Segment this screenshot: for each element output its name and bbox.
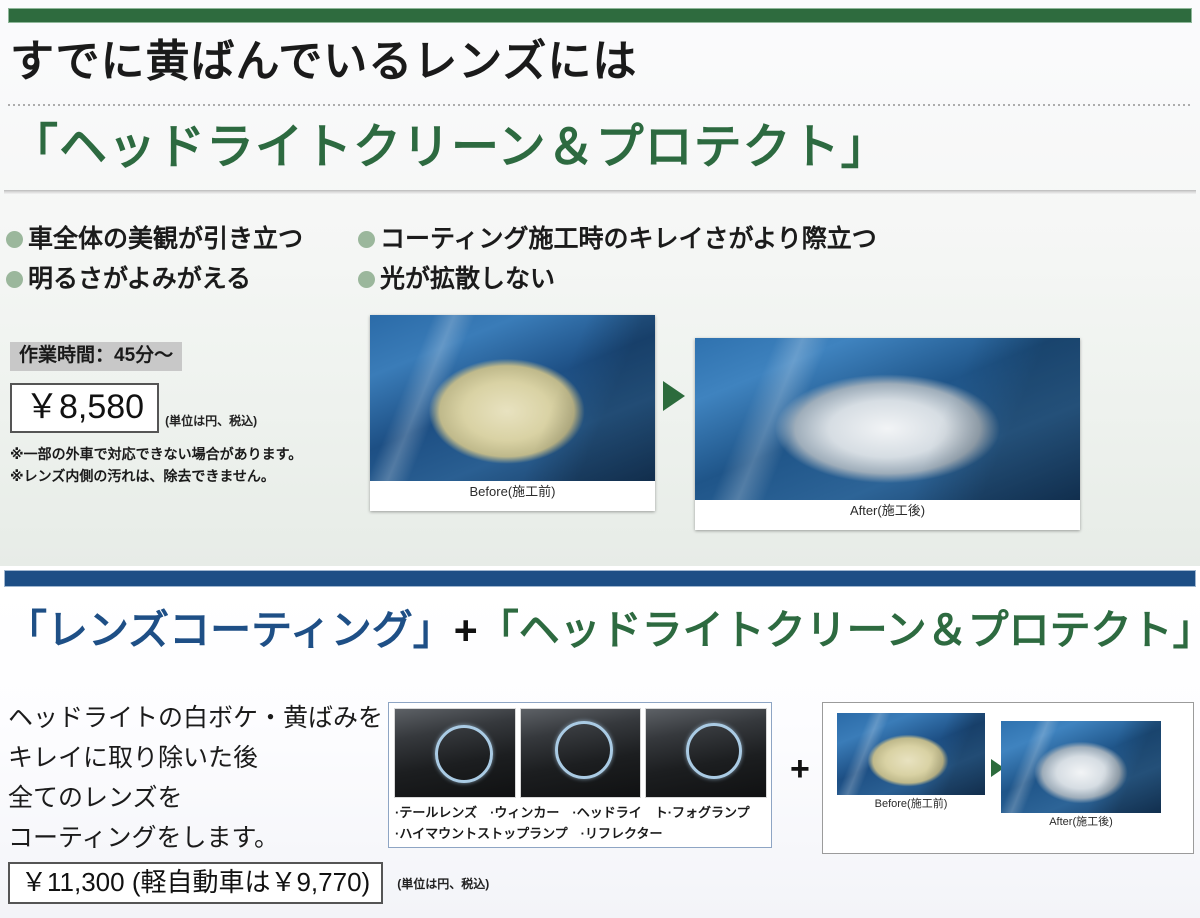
bottom-after-photo-card: After(施工後) bbox=[1001, 721, 1161, 813]
top-disclaimer-list: ※一部の外車で対応できない場合があります。 ※レンズ内側の汚れは、除去できません… bbox=[10, 443, 340, 487]
bullet-dot-icon bbox=[358, 271, 375, 288]
lens-coverage-panel: ·テールレンズ ·ウィンカー ·ヘッドライ ト·フォグランプ ·ハイマウントスト… bbox=[388, 702, 772, 848]
gray-rule-divider bbox=[4, 190, 1196, 194]
navy-accent-bar bbox=[4, 570, 1196, 587]
top-price-unit-note: (単位は円、税込) bbox=[165, 412, 257, 429]
bullet-item-1: 車全体の美観が引き立つ bbox=[6, 222, 358, 256]
disclaimer-line: ※一部の外車で対応できない場合があります。 bbox=[10, 443, 340, 465]
top-after-photo-card: After(施工後) bbox=[695, 338, 1080, 530]
lens-photo-grid bbox=[389, 703, 771, 798]
disclaimer-line: ※レンズ内側の汚れは、除去できません。 bbox=[10, 465, 340, 487]
highlight-circle-icon bbox=[555, 721, 613, 779]
bullet-label: コーティング施工時のキレイさがより際立つ bbox=[380, 222, 877, 256]
bottom-heading: 「レンズコーティング」+「ヘッドライトクリーン＆プロテクト」セット bbox=[6, 598, 1196, 662]
bullet-dot-icon bbox=[6, 231, 23, 248]
description-line: コーティングをします。 bbox=[8, 818, 388, 858]
description-line: キレイに取り除いた後 bbox=[8, 738, 388, 778]
dotted-divider bbox=[8, 104, 1192, 106]
benefit-bullet-list: 車全体の美観が引き立つ コーティング施工時のキレイさがより際立つ 明るさがよみが… bbox=[6, 222, 1006, 302]
top-heading-row-secondary: 「ヘッドライトクリーン＆プロテクト」 bbox=[10, 114, 1190, 184]
plus-separator: + bbox=[790, 752, 810, 786]
bottom-heading-row: 「レンズコーティング」+「ヘッドライトクリーン＆プロテクト」セット bbox=[6, 598, 1196, 664]
top-heading-service-name: 「ヘッドライトクリーン＆プロテクト」 bbox=[10, 114, 1190, 182]
bottom-before-after-panel: Before(施工前) After(施工後) bbox=[822, 702, 1194, 854]
tail-lens-photo bbox=[394, 708, 516, 798]
bullet-row-1: 車全体の美観が引き立つ コーティング施工時のキレイさがより際立つ bbox=[6, 222, 1006, 256]
headlight-cleaned-photo bbox=[695, 338, 1080, 500]
highlight-circle-icon bbox=[686, 723, 742, 779]
bullet-item-2: コーティング施工時のキレイさがより際立つ bbox=[358, 222, 877, 256]
bottom-description-block: ヘッドライトの白ボケ・黄ばみを キレイに取り除いた後 全てのレンズを コーティン… bbox=[8, 698, 388, 858]
description-line: 全てのレンズを bbox=[8, 778, 388, 818]
bottom-price-box: ￥11,300 (軽自動車は￥9,770) bbox=[8, 862, 383, 904]
bottom-price-row: ￥11,300 (軽自動車は￥9,770) (単位は円、税込) bbox=[8, 862, 489, 904]
work-time-badge: 作業時間：45分〜 bbox=[10, 342, 182, 371]
bottom-after-caption: After(施工後) bbox=[1001, 813, 1161, 831]
headlight-fog-lamp-photo bbox=[645, 708, 767, 798]
bottom-price-unit-note: (単位は円、税込) bbox=[397, 875, 489, 892]
bottom-heading-part-2: 「ヘッドライトクリーン＆プロテクト」 bbox=[478, 607, 1200, 653]
bullet-row-2: 明るさがよみがえる 光が拡散しない bbox=[6, 262, 1006, 296]
bullet-label: 車全体の美観が引き立つ bbox=[28, 222, 303, 256]
headlight-yellowed-photo bbox=[370, 315, 655, 481]
bottom-heading-part-1: 「レンズコーティング」 bbox=[6, 607, 454, 653]
top-after-caption: After(施工後) bbox=[695, 500, 1080, 522]
lens-label-line: ·ハイマウントストップランプ ·リフレクター bbox=[395, 823, 771, 844]
transformation-arrow-icon bbox=[663, 381, 685, 411]
bottom-price-value: ￥11,300 (軽自動車は￥9,770) bbox=[21, 865, 370, 899]
top-section: すでに黄ばんでいるレンズには 「ヘッドライトクリーン＆プロテクト」 車全体の美観… bbox=[0, 0, 1200, 566]
description-line: ヘッドライトの白ボケ・黄ばみを bbox=[8, 698, 388, 738]
bullet-item-3: 明るさがよみがえる bbox=[6, 262, 358, 296]
top-before-caption: Before(施工前) bbox=[370, 481, 655, 503]
top-price-row: ￥8,580 (単位は円、税込) bbox=[10, 383, 340, 433]
headlight-yellowed-photo-small bbox=[837, 713, 985, 795]
bottom-heading-plus: + bbox=[454, 607, 478, 653]
bullet-dot-icon bbox=[358, 231, 375, 248]
headlight-cleaned-photo-small bbox=[1001, 721, 1161, 813]
bullet-dot-icon bbox=[6, 271, 23, 288]
bullet-label: 光が拡散しない bbox=[380, 262, 555, 296]
top-before-photo-card: Before(施工前) bbox=[370, 315, 655, 511]
top-heading-row: すでに黄ばんでいるレンズには bbox=[10, 32, 1190, 94]
winker-photo bbox=[520, 708, 642, 798]
advertisement-page: すでに黄ばんでいるレンズには 「ヘッドライトクリーン＆プロテクト」 車全体の美観… bbox=[0, 0, 1200, 918]
bottom-before-photo-card: Before(施工前) bbox=[837, 713, 985, 795]
lens-label-list: ·テールレンズ ·ウィンカー ·ヘッドライ ト·フォグランプ ·ハイマウントスト… bbox=[389, 798, 771, 844]
top-price-value: ￥8,580 bbox=[25, 386, 144, 428]
bullet-label: 明るさがよみがえる bbox=[28, 262, 251, 296]
highlight-circle-icon bbox=[435, 725, 493, 783]
lens-label-line: ·テールレンズ ·ウィンカー ·ヘッドライ ト·フォグランプ bbox=[395, 802, 771, 823]
top-price-info-block: 作業時間：45分〜 ￥8,580 (単位は円、税込) ※一部の外車で対応できない… bbox=[10, 342, 340, 487]
bullet-item-4: 光が拡散しない bbox=[358, 262, 555, 296]
top-heading-primary: すでに黄ばんでいるレンズには bbox=[10, 32, 1190, 92]
top-price-box: ￥8,580 bbox=[10, 383, 159, 433]
green-accent-bar bbox=[8, 8, 1192, 23]
bottom-before-caption: Before(施工前) bbox=[837, 795, 985, 813]
